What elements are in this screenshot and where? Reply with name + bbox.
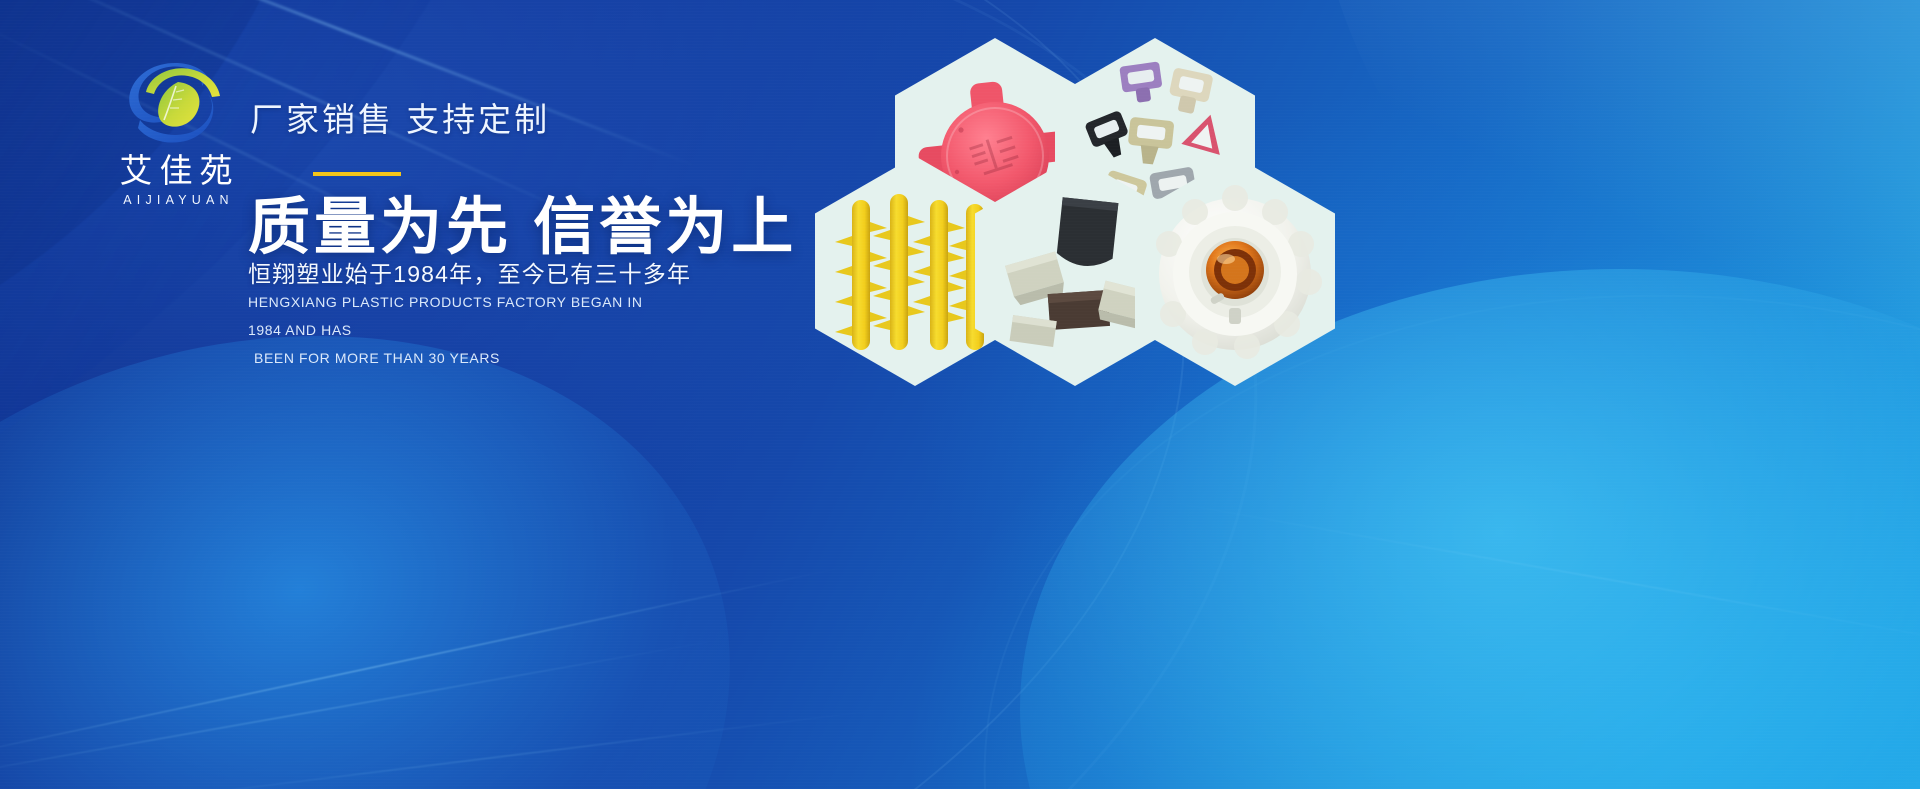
promo-banner: 艾佳苑 AIJIAYUAN 厂家销售 支持定制 质量为先 信誉为上 恒翔塑业始于… — [0, 0, 1920, 789]
company-logo: 艾佳苑 AIJIAYUAN — [86, 56, 266, 207]
product-hexagon-cluster — [800, 38, 1320, 378]
subtitle-chinese: 恒翔塑业始于1984年，至今已有三十多年 — [248, 255, 691, 289]
banner-content: 艾佳苑 AIJIAYUAN 厂家销售 支持定制 质量为先 信誉为上 恒翔塑业始于… — [0, 0, 1920, 789]
subtitle-english-line-2: BEEN FOR MORE THAN 30 YEARS — [248, 344, 668, 372]
eyebrow-text: 厂家销售 支持定制 — [250, 93, 550, 141]
logo-name-cn: 艾佳苑 — [86, 154, 266, 189]
subtitle-english: HENGXIANG PLASTIC PRODUCTS FACTORY BEGAN… — [248, 288, 668, 372]
headline-text: 质量为先 信誉为上 — [248, 176, 797, 266]
logo-name-pinyin: AIJIAYUAN — [86, 193, 266, 207]
subtitle-english-line-1: HENGXIANG PLASTIC PRODUCTS FACTORY BEGAN… — [248, 294, 643, 338]
leaf-swirl-logo-icon — [116, 56, 236, 152]
